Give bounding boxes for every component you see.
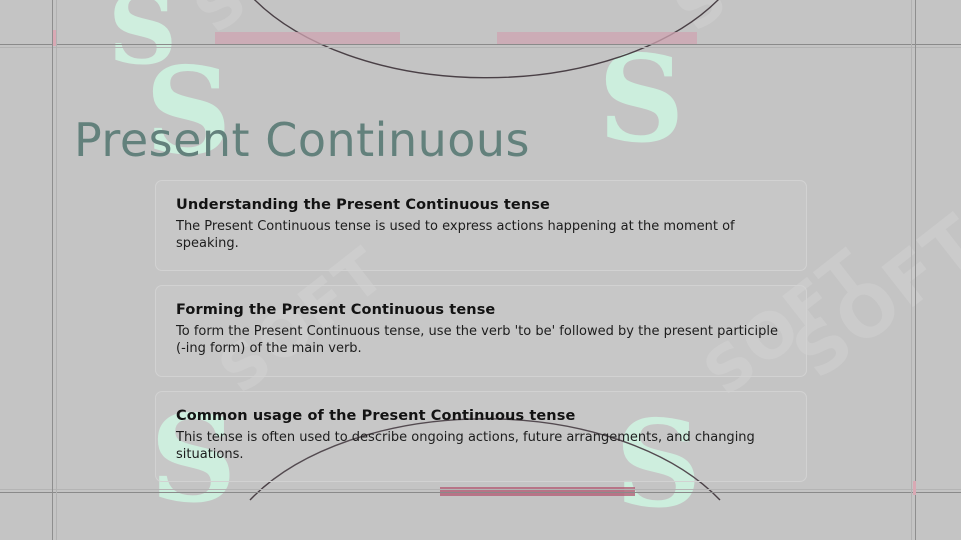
content-card[interactable]: Forming the Present Continuous tense To … [155,285,807,376]
crop-mark-accent-top-left [53,30,56,46]
slide-content: Present Continuous Understanding the Pre… [52,45,915,492]
slide-canvas: S S SOFT S SOFT S SOFT S SOFT SOFT [0,0,961,540]
content-card[interactable]: Common usage of the Present Continuous t… [155,391,807,482]
card-body-text: To form the Present Continuous tense, us… [176,323,786,357]
card-body-text: The Present Continuous tense is used to … [176,218,786,252]
content-card-list: Understanding the Present Continuous ten… [155,180,807,482]
card-body-text: This tense is often used to describe ong… [176,429,786,463]
card-heading: Understanding the Present Continuous ten… [176,197,786,213]
guide-line-vertical-right [915,0,916,540]
content-card[interactable]: Understanding the Present Continuous ten… [155,180,807,271]
arc-top-accent-right [497,32,697,44]
card-heading: Common usage of the Present Continuous t… [176,408,786,424]
page-title: Present Continuous [74,113,530,167]
guide-line-horizontal-bottom [0,492,961,493]
arc-top-accent-left [215,32,400,44]
card-heading: Forming the Present Continuous tense [176,302,786,318]
